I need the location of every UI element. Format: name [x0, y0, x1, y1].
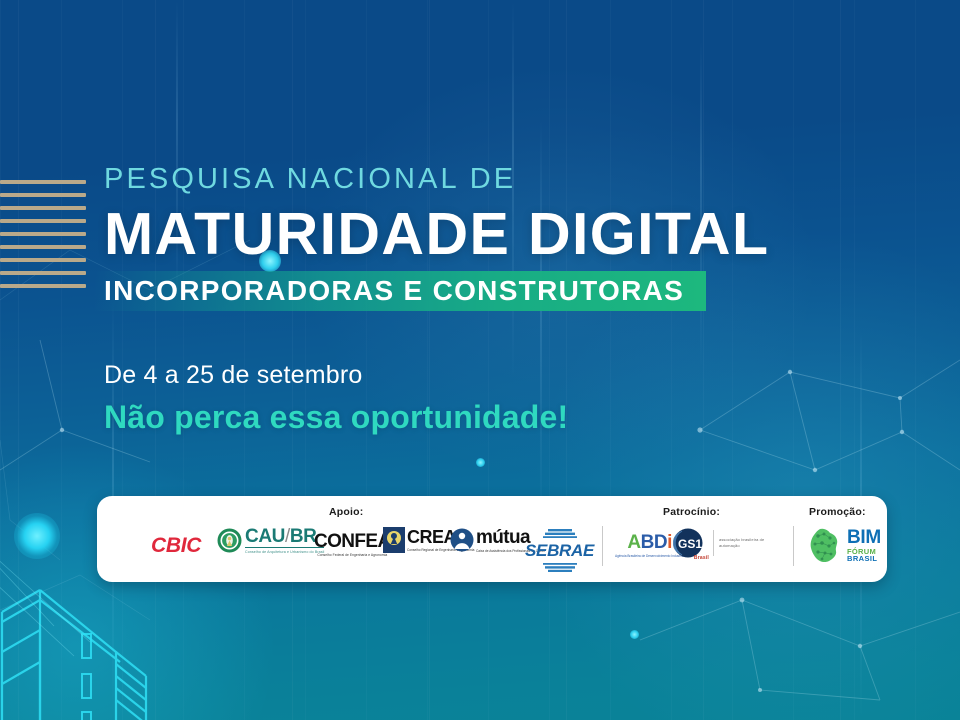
section-label-apoio: Apoio: — [329, 506, 363, 518]
glow-node-icon — [630, 630, 639, 639]
logo-confea-text: CONFEA — [314, 532, 391, 551]
logo-cau-br: CAU/BR Conselho de Arquitetura e Urbanis… — [217, 527, 324, 555]
logo-bim-brasil: BRASIL — [847, 555, 881, 563]
logo-confea: CONFEA Conselho Federal de Engenharia e … — [314, 532, 391, 557]
eyebrow-text: PESQUISA NACIONAL DE — [104, 164, 804, 196]
logo-confea-subtitle: Conselho Federal de Engenharia e Agronom… — [314, 553, 391, 557]
logo-cau-br-subtitle: Conselho de Arquitetura e Urbanismo do B… — [245, 550, 324, 555]
sebrae-mark-icon — [543, 529, 577, 538]
logo-section-divider — [793, 526, 794, 566]
logo-gs1-tagline: associação brasileira de automação — [719, 537, 767, 549]
sponsor-logo-card: Apoio: Patrocínio: Promoção: CBIC — [97, 496, 887, 582]
cau-emblem-icon — [217, 528, 242, 553]
section-label-promocao: Promoção: — [809, 506, 866, 518]
logo-row: CBIC CAU/BR Conselho de Arquit — [97, 524, 887, 572]
logo-cbic: CBIC — [151, 534, 201, 558]
crea-emblem-icon — [383, 527, 405, 553]
gold-lines-decoration — [0, 180, 86, 288]
headline-block: PESQUISA NACIONAL DE MATURIDADE DIGITAL … — [104, 164, 804, 436]
page-title: MATURIDADE DIGITAL — [104, 203, 804, 266]
logo-sebrae: SEBRAE — [525, 525, 594, 577]
glow-node-icon — [14, 513, 60, 559]
svg-text:GS1: GS1 — [678, 537, 702, 551]
logo-cau-br-text: CAU/BR — [245, 527, 324, 546]
logo-bim-forum-brasil: BIM FÓRUM BRASIL — [804, 526, 881, 566]
date-text: De 4 a 25 de setembro — [104, 361, 804, 390]
logo-cbic-text: CBIC — [151, 534, 201, 558]
subtitle-wrapper: INCORPORADORAS E CONSTRUTORAS — [104, 271, 804, 311]
subtitle-text: INCORPORADORAS E CONSTRUTORAS — [104, 274, 684, 308]
brazil-map-icon — [804, 526, 844, 566]
gs1-mark-icon: GS1 — [673, 528, 707, 558]
call-to-action-text: Não perca essa oportunidade! — [104, 399, 804, 436]
section-label-patrocinio: Patrocínio: — [663, 506, 720, 518]
logo-section-divider — [602, 526, 603, 566]
sebrae-mark-icon — [543, 563, 577, 572]
logo-gs1-brasil: GS1 Brasil associação brasileira de auto… — [673, 528, 767, 558]
logo-bim-text: BIM — [847, 529, 881, 547]
logo-gs1-country: Brasil — [694, 555, 709, 561]
mutua-emblem-icon — [450, 528, 474, 552]
logo-sebrae-text: SEBRAE — [525, 542, 594, 559]
promo-banner: PESQUISA NACIONAL DE MATURIDADE DIGITAL … — [0, 0, 960, 720]
glow-node-icon — [476, 458, 485, 467]
